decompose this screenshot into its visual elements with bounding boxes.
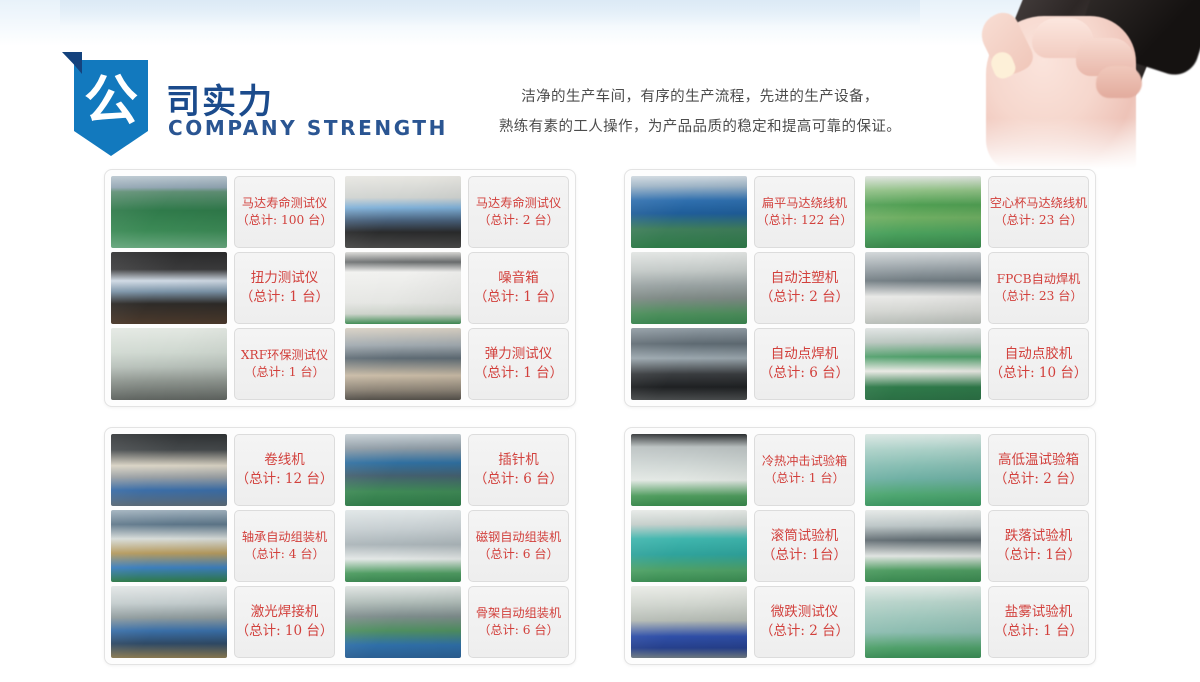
equipment-photo bbox=[111, 328, 227, 400]
equipment-name: 滚筒试验机 bbox=[771, 527, 839, 546]
equipment-count: （总计: 10 台） bbox=[990, 364, 1088, 383]
equipment-name: XRF环保测试仪 bbox=[241, 347, 328, 364]
equipment-name: 马达寿命测试仪 bbox=[242, 195, 327, 212]
equipment-cell: 骨架自动组装机（总计: 6 台） bbox=[345, 586, 569, 658]
equipment-label-card: 噪音箱（总计: 1 台） bbox=[468, 252, 569, 324]
equipment-name: 自动点胶机 bbox=[1005, 345, 1073, 364]
equipment-name: 微跌测试仪 bbox=[771, 603, 839, 622]
equipment-count: （总计: 2 台） bbox=[760, 622, 849, 641]
photo-sheen bbox=[111, 434, 227, 506]
equipment-photo bbox=[865, 176, 981, 248]
equipment-photo bbox=[631, 252, 747, 324]
equipment-label-card: 跌落试验机（总计: 1台） bbox=[988, 510, 1089, 582]
equipment-name: 自动注塑机 bbox=[771, 269, 839, 288]
equipment-name: 激光焊接机 bbox=[251, 603, 319, 622]
photo-sheen bbox=[111, 252, 227, 324]
equipment-label-card: 轴承自动组装机（总计: 4 台） bbox=[234, 510, 335, 582]
equipment-photo bbox=[631, 510, 747, 582]
equipment-count: （总计: 1台） bbox=[762, 546, 847, 565]
equipment-cell: 高低温试验箱（总计: 2 台） bbox=[865, 434, 1089, 506]
equipment-cell: FPCB自动焊机（总计: 23 台） bbox=[865, 252, 1089, 324]
equipment-cell: 滚筒试验机（总计: 1台） bbox=[631, 510, 855, 582]
equipment-count: （总计: 1 台） bbox=[764, 470, 845, 487]
equipment-label-card: 滚筒试验机（总计: 1台） bbox=[754, 510, 855, 582]
equipment-cell: 激光焊接机（总计: 10 台） bbox=[111, 586, 335, 658]
equipment-label-card: 冷热冲击试验箱（总计: 1 台） bbox=[754, 434, 855, 506]
equipment-name: 噪音箱 bbox=[498, 269, 539, 288]
equipment-name: 盐雾试验机 bbox=[1005, 603, 1073, 622]
equipment-count: （总计: 1 台） bbox=[994, 622, 1083, 641]
panel-environmental-test-chambers: 冷热冲击试验箱（总计: 1 台）高低温试验箱（总计: 2 台）滚筒试验机（总计:… bbox=[624, 427, 1096, 665]
photo-sheen bbox=[345, 328, 461, 400]
logo-title-en: COMPANY STRENGTH bbox=[168, 116, 448, 140]
photo-sheen bbox=[111, 510, 227, 582]
equipment-photo bbox=[345, 434, 461, 506]
equipment-cell: 自动点焊机（总计: 6 台） bbox=[631, 328, 855, 400]
equipment-name: 弹力测试仪 bbox=[485, 345, 553, 364]
tagline-line-1: 洁净的生产车间，有序的生产流程，先进的生产设备， bbox=[521, 89, 879, 105]
photo-sheen bbox=[345, 434, 461, 506]
equipment-count: （总计: 12 台） bbox=[236, 470, 334, 489]
equipment-count: （总计: 4 台） bbox=[244, 546, 325, 563]
equipment-name: 马达寿命测试仪 bbox=[476, 195, 561, 212]
equipment-count: （总计: 1 台） bbox=[244, 364, 325, 381]
equipment-photo bbox=[111, 510, 227, 582]
equipment-photo bbox=[111, 586, 227, 658]
equipment-label-card: 盐雾试验机（总计: 1 台） bbox=[988, 586, 1089, 658]
equipment-cell: 自动注塑机（总计: 2 台） bbox=[631, 252, 855, 324]
page-header: 公 司实力 COMPANY STRENGTH 洁净的生产车间，有序的生产流程，先… bbox=[0, 0, 1200, 168]
ribbon-badge-glyph: 公 bbox=[74, 60, 148, 142]
photo-sheen bbox=[111, 176, 227, 248]
equipment-cell: 微跌测试仪（总计: 2 台） bbox=[631, 586, 855, 658]
equipment-label-card: 扁平马达绕线机（总计: 122 台） bbox=[754, 176, 855, 248]
photo-sheen bbox=[631, 328, 747, 400]
equipment-label-card: 插针机（总计: 6 台） bbox=[468, 434, 569, 506]
equipment-photo bbox=[111, 176, 227, 248]
equipment-count: （总计: 100 台） bbox=[236, 212, 332, 229]
equipment-label-card: XRF环保测试仪（总计: 1 台） bbox=[234, 328, 335, 400]
equipment-label-card: 扭力测试仪（总计: 1 台） bbox=[234, 252, 335, 324]
panel-production-machines: 扁平马达绕线机（总计: 122 台）空心杯马达绕线机（总计: 23 台）自动注塑… bbox=[624, 169, 1096, 407]
equipment-label-card: 空心杯马达绕线机（总计: 23 台） bbox=[988, 176, 1089, 248]
header-tagline: 洁净的生产车间，有序的生产流程，先进的生产设备， 熟练有素的工人操作，为产品品质… bbox=[440, 82, 960, 142]
equipment-name: 扁平马达绕线机 bbox=[762, 195, 847, 212]
equipment-name: 自动点焊机 bbox=[771, 345, 839, 364]
equipment-count: （总计: 10 台） bbox=[236, 622, 334, 641]
equipment-cell: 自动点胶机（总计: 10 台） bbox=[865, 328, 1089, 400]
equipment-photo bbox=[865, 328, 981, 400]
equipment-cell: 跌落试验机（总计: 1台） bbox=[865, 510, 1089, 582]
equipment-count: （总计: 1 台） bbox=[474, 288, 563, 307]
equipment-count: （总计: 6 台） bbox=[478, 546, 559, 563]
equipment-name: 冷热冲击试验箱 bbox=[762, 453, 847, 470]
equipment-cell: 马达寿命测试仪（总计: 2 台） bbox=[345, 176, 569, 248]
equipment-photo bbox=[865, 510, 981, 582]
photo-sheen bbox=[631, 252, 747, 324]
equipment-count: （总计: 2 台） bbox=[478, 212, 559, 229]
equipment-name: FPCB自动焊机 bbox=[997, 271, 1081, 288]
equipment-cell: 轴承自动组装机（总计: 4 台） bbox=[111, 510, 335, 582]
equipment-name: 扭力测试仪 bbox=[251, 269, 319, 288]
equipment-name: 插针机 bbox=[498, 451, 539, 470]
equipment-cell: 空心杯马达绕线机（总计: 23 台） bbox=[865, 176, 1089, 248]
equipment-cell: 扭力测试仪（总计: 1 台） bbox=[111, 252, 335, 324]
equipment-count: （总计: 1台） bbox=[996, 546, 1081, 565]
equipment-count: （总计: 2 台） bbox=[994, 470, 1083, 489]
equipment-cell: 冷热冲击试验箱（总计: 1 台） bbox=[631, 434, 855, 506]
photo-sheen bbox=[345, 252, 461, 324]
photo-sheen bbox=[865, 176, 981, 248]
equipment-count: （总计: 6 台） bbox=[760, 364, 849, 383]
photo-sheen bbox=[865, 510, 981, 582]
equipment-label-card: 卷线机（总计: 12 台） bbox=[234, 434, 335, 506]
equipment-count: （总计: 6 台） bbox=[478, 622, 559, 639]
equipment-cell: XRF环保测试仪（总计: 1 台） bbox=[111, 328, 335, 400]
photo-sheen bbox=[111, 586, 227, 658]
equipment-cell: 盐雾试验机（总计: 1 台） bbox=[865, 586, 1089, 658]
photo-sheen bbox=[631, 510, 747, 582]
equipment-label-card: 自动点焊机（总计: 6 台） bbox=[754, 328, 855, 400]
equipment-photo bbox=[345, 328, 461, 400]
equipment-cell: 噪音箱（总计: 1 台） bbox=[345, 252, 569, 324]
photo-sheen bbox=[865, 434, 981, 506]
equipment-photo bbox=[865, 434, 981, 506]
equipment-count: （总计: 2 台） bbox=[760, 288, 849, 307]
equipment-photo bbox=[631, 586, 747, 658]
photo-sheen bbox=[345, 586, 461, 658]
equipment-count: （总计: 6 台） bbox=[474, 470, 563, 489]
photo-sheen bbox=[865, 252, 981, 324]
equipment-label-card: 激光焊接机（总计: 10 台） bbox=[234, 586, 335, 658]
equipment-name: 磁钢自动组装机 bbox=[476, 529, 561, 546]
equipment-name: 卷线机 bbox=[264, 451, 305, 470]
equipment-photo bbox=[111, 252, 227, 324]
photo-sheen bbox=[631, 586, 747, 658]
equipment-photo bbox=[345, 586, 461, 658]
tagline-line-2: 熟练有素的工人操作，为产品品质的稳定和提高可靠的保证。 bbox=[440, 112, 960, 142]
photo-sheen bbox=[345, 510, 461, 582]
equipment-label-card: 马达寿命测试仪（总计: 2 台） bbox=[468, 176, 569, 248]
equipment-name: 轴承自动组装机 bbox=[242, 529, 327, 546]
equipment-cell: 卷线机（总计: 12 台） bbox=[111, 434, 335, 506]
equipment-label-card: 磁钢自动组装机（总计: 6 台） bbox=[468, 510, 569, 582]
equipment-photo bbox=[631, 176, 747, 248]
photo-sheen bbox=[865, 328, 981, 400]
equipment-label-card: 高低温试验箱（总计: 2 台） bbox=[988, 434, 1089, 506]
equipment-photo bbox=[865, 586, 981, 658]
equipment-label-card: 微跌测试仪（总计: 2 台） bbox=[754, 586, 855, 658]
equipment-label-card: FPCB自动焊机（总计: 23 台） bbox=[988, 252, 1089, 324]
photo-sheen bbox=[345, 176, 461, 248]
equipment-count: （总计: 23 台） bbox=[994, 288, 1082, 305]
equipment-label-card: 马达寿命测试仪（总计: 100 台） bbox=[234, 176, 335, 248]
equipment-label-card: 自动点胶机（总计: 10 台） bbox=[988, 328, 1089, 400]
equipment-label-card: 骨架自动组装机（总计: 6 台） bbox=[468, 586, 569, 658]
equipment-cell: 磁钢自动组装机（总计: 6 台） bbox=[345, 510, 569, 582]
equipment-name: 跌落试验机 bbox=[1005, 527, 1073, 546]
equipment-cell: 插针机（总计: 6 台） bbox=[345, 434, 569, 506]
photo-sheen bbox=[631, 176, 747, 248]
equipment-label-card: 自动注塑机（总计: 2 台） bbox=[754, 252, 855, 324]
equipment-name: 高低温试验箱 bbox=[998, 451, 1079, 470]
photo-sheen bbox=[631, 434, 747, 506]
photo-sheen bbox=[865, 586, 981, 658]
panel-assembly-machines: 卷线机（总计: 12 台）插针机（总计: 6 台）轴承自动组装机（总计: 4 台… bbox=[104, 427, 576, 665]
equipment-cell: 扁平马达绕线机（总计: 122 台） bbox=[631, 176, 855, 248]
equipment-count: （总计: 122 台） bbox=[756, 212, 852, 229]
equipment-name: 骨架自动组装机 bbox=[476, 605, 561, 622]
equipment-photo bbox=[345, 252, 461, 324]
equipment-count: （总计: 1 台） bbox=[474, 364, 563, 383]
equipment-photo bbox=[345, 176, 461, 248]
equipment-name: 空心杯马达绕线机 bbox=[990, 195, 1088, 212]
equipment-photo bbox=[345, 510, 461, 582]
panel-testing-equipment: 马达寿命测试仪（总计: 100 台）马达寿命测试仪（总计: 2 台）扭力测试仪（… bbox=[104, 169, 576, 407]
photo-sheen bbox=[111, 328, 227, 400]
equipment-photo bbox=[631, 328, 747, 400]
equipment-cell: 弹力测试仪（总计: 1 台） bbox=[345, 328, 569, 400]
equipment-count: （总计: 1 台） bbox=[240, 288, 329, 307]
equipment-count: （总计: 23 台） bbox=[994, 212, 1082, 229]
equipment-photo bbox=[865, 252, 981, 324]
equipment-label-card: 弹力测试仪（总计: 1 台） bbox=[468, 328, 569, 400]
equipment-cell: 马达寿命测试仪（总计: 100 台） bbox=[111, 176, 335, 248]
equipment-photo bbox=[631, 434, 747, 506]
equipment-photo bbox=[111, 434, 227, 506]
